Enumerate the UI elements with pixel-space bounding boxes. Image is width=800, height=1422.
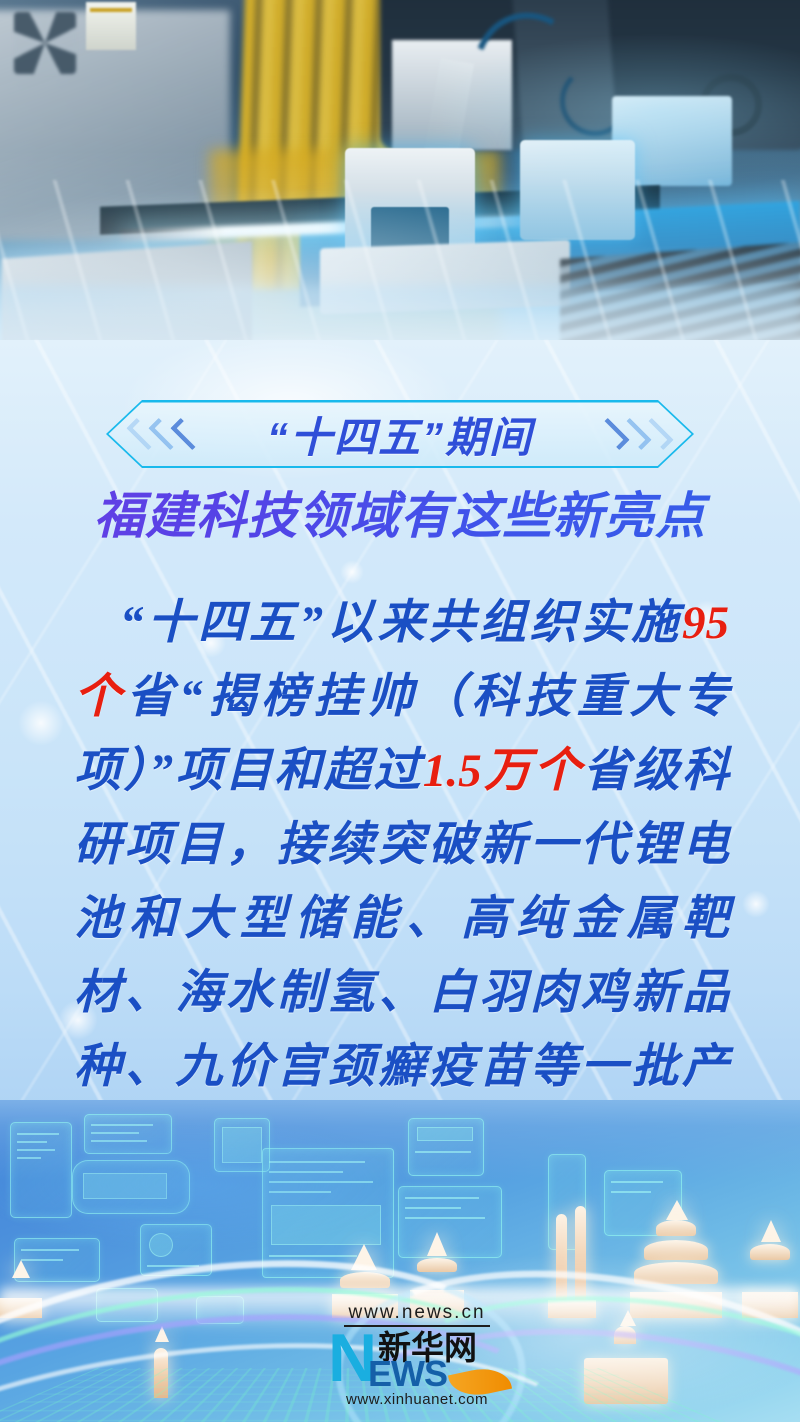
hero-photo-industrial-automation — [0, 0, 800, 372]
photo-gripper-left — [345, 148, 475, 253]
xinhua-logo[interactable]: www.news.cn N 新华网 EWS www.xinhuanet.com — [322, 1302, 512, 1412]
banner-title: “十四五”期间 — [107, 400, 693, 468]
body-text-run: “十四五”以来共组织实施 — [120, 597, 682, 649]
hud-panel — [408, 1118, 484, 1176]
photo-fan-grille — [14, 12, 76, 74]
hud-panel — [84, 1114, 172, 1154]
hud-panel — [72, 1160, 190, 1214]
photo-notice-card — [86, 2, 136, 50]
poster-root: “十四五”期间 福建科技领域有这些新亮点 “十四五”以来共组织实施95个省“揭榜… — [0, 0, 800, 1422]
photo-gripper-right — [520, 140, 635, 240]
hud-panel — [10, 1122, 72, 1218]
header-banner: “十四五”期间 — [107, 400, 693, 468]
page-subtitle: 福建科技领域有这些新亮点 — [0, 476, 800, 548]
body-paragraph: “十四五”以来共组织实施95个省“揭榜挂帅（科技重大专项）”项目和超过1.5万个… — [74, 586, 729, 1178]
body-highlight-number: 1.5万个 — [423, 745, 583, 797]
logo-name-en: EWS — [368, 1357, 447, 1391]
logo-wordmark: N 新华网 EWS — [322, 1329, 512, 1391]
